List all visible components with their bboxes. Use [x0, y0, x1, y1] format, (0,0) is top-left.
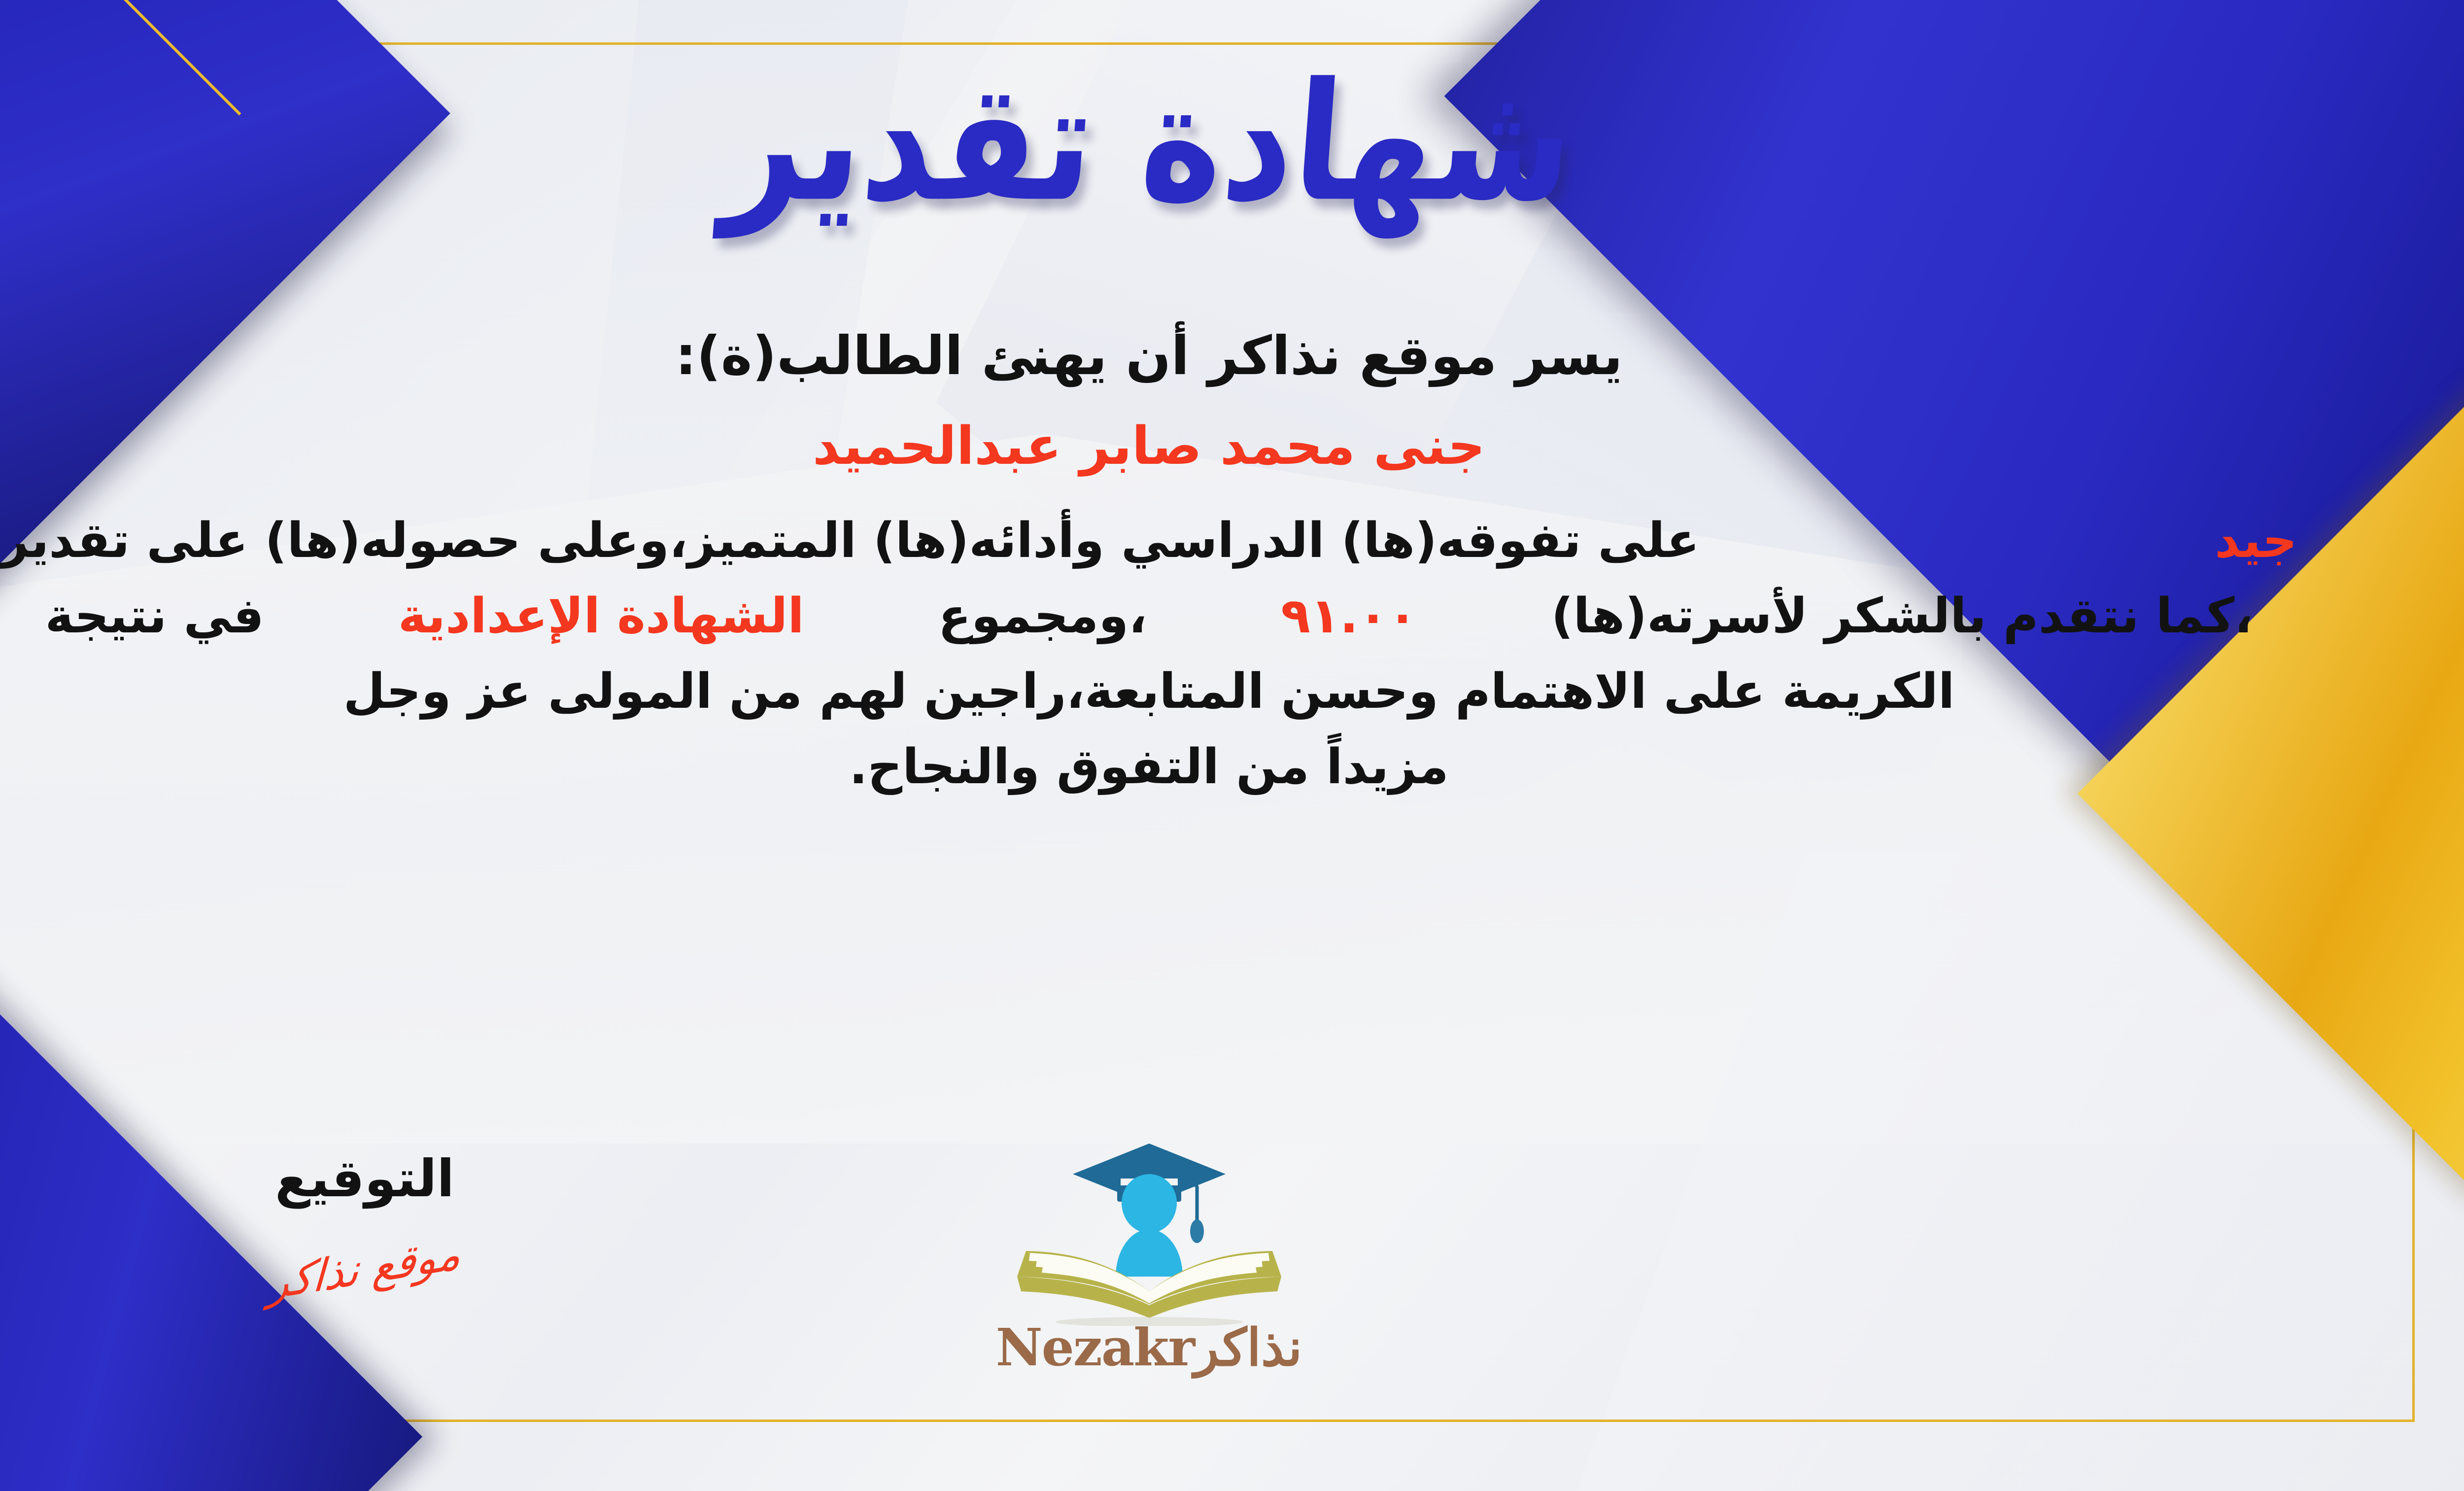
student-name: جنى محمد صابر عبدالحميد [813, 416, 1485, 476]
intro-line: يسر موقع نذاكر أن يهنئ الطالب(ة): [675, 325, 1623, 387]
logo-wordmark-latin: Nezakr [996, 1317, 1195, 1378]
body-line-1: جيد على تفوقه(ها) الدراسي وأدائه(ها) الم… [0, 507, 2381, 575]
total-score-value: ٩١.٠٠ [1281, 582, 1417, 651]
certificate-name-value: الشهادة الإعدادية [398, 582, 804, 651]
body-line-2-mid: ،ومجموع [938, 582, 1147, 651]
body-line-1-text: على تفوقه(ها) الدراسي وأدائه(ها) المتميز… [1, 507, 1700, 575]
body-line-2-prefix: في نتيجة [45, 582, 264, 651]
certificate-canvas: شهادة تقدير يسر موقع نذاكر أن يهنئ الطال… [0, 0, 2464, 1491]
grade-value: جيد [2215, 507, 2297, 575]
certificate-title: شهادة تقدير [719, 62, 1579, 224]
body-line-4: مزيداً من التفوق والنجاح. [849, 733, 1448, 801]
graduation-book-logo-icon [977, 1129, 1322, 1326]
logo-wordmark: نذاكرNezakr [996, 1317, 1302, 1378]
body-line-2: ،كما نتقدم بالشكر لأسرته(ها) ٩١.٠٠ ،ومجم… [0, 582, 2357, 651]
body-line-2-suffix: ،كما نتقدم بالشكر لأسرته(ها) [1551, 582, 2253, 651]
brand-logo: نذاكرNezakr [0, 1129, 2464, 1378]
body-line-3: الكريمة على الاهتمام وحسن المتابعة،راجين… [343, 658, 1955, 726]
logo-wordmark-arabic: نذاكر [1194, 1317, 1302, 1378]
certificate-footer: التوقيع موقع نذاكر [0, 1129, 2464, 1405]
